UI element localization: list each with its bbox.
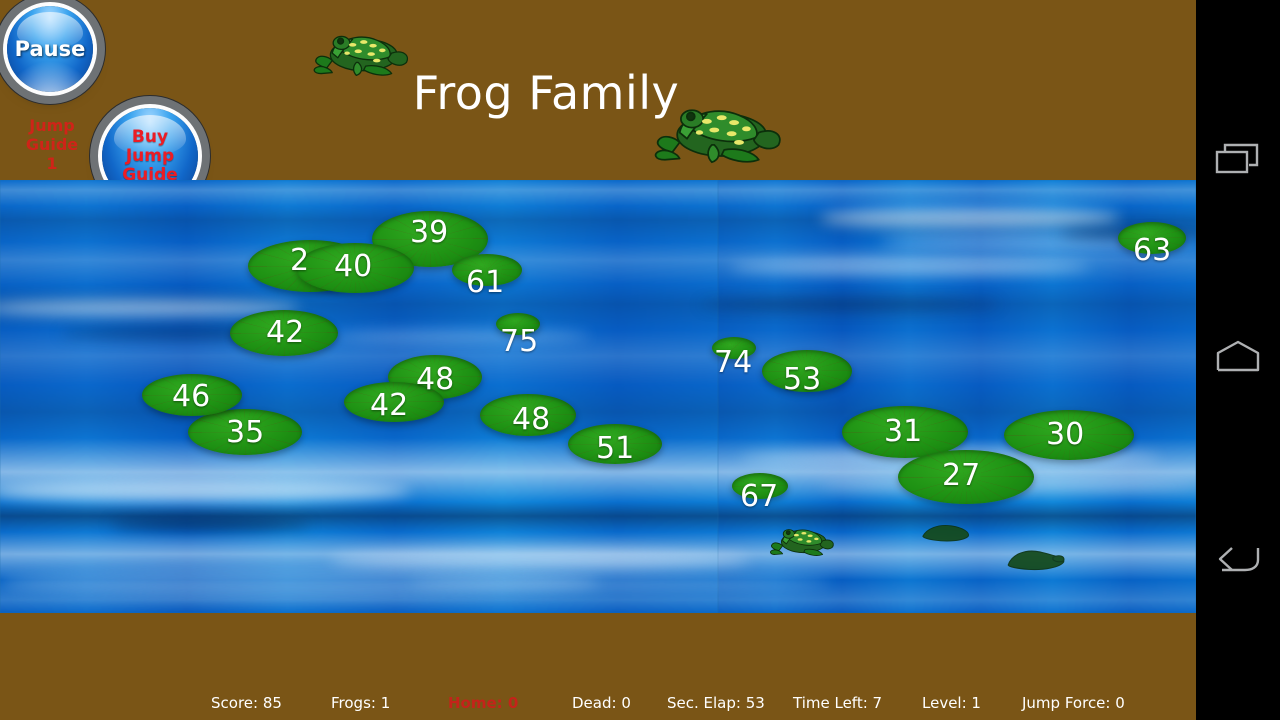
- top-banner: Frog Family: [0, 0, 1196, 180]
- lilypad[interactable]: [1004, 410, 1134, 460]
- jump-guide-line-1: Jump: [16, 116, 88, 135]
- lilypad[interactable]: [762, 350, 852, 392]
- lilypad[interactable]: [188, 409, 302, 455]
- page-title-text: Frog Family: [413, 70, 680, 116]
- status-frogs: Frogs: 1: [331, 694, 390, 712]
- lilypad[interactable]: [496, 313, 540, 335]
- frog-sprite-banner-right: [650, 95, 786, 175]
- status-bar: Score: 85Frogs: 1Home: 0Dead: 0Sec. Elap…: [0, 694, 1196, 720]
- water-playfield[interactable]: 3924061427548464235485174536331302767: [0, 180, 1196, 613]
- android-navigation-bar: [1196, 0, 1280, 720]
- lilypad[interactable]: [452, 254, 522, 286]
- pause-button[interactable]: Pause: [7, 6, 93, 92]
- lilypad[interactable]: [732, 473, 788, 499]
- buy-label-line-1: Buy: [122, 128, 178, 147]
- status-jump-force: Jump Force: 0: [1022, 694, 1125, 712]
- home-button[interactable]: [1196, 314, 1280, 398]
- pause-button-label: Pause: [15, 37, 86, 61]
- buy-jump-guide-label: Buy Jump Guide: [122, 128, 178, 181]
- jump-guide-counter: Jump Guide 1: [16, 116, 88, 173]
- status-dead: Dead: 0: [572, 694, 631, 712]
- home-icon: [1215, 339, 1261, 373]
- frog-silhouette-submerged-1: [920, 520, 972, 544]
- jump-guide-line-2: Guide: [16, 135, 88, 154]
- status-time-left: Time Left: 7: [793, 694, 882, 712]
- lilypad[interactable]: [142, 374, 242, 416]
- game-viewport: Frog Family: [0, 0, 1196, 720]
- lilypad[interactable]: [568, 424, 662, 464]
- lilypad[interactable]: [296, 243, 414, 293]
- screen: Frog Family: [0, 0, 1280, 720]
- lilypad[interactable]: [230, 310, 338, 356]
- lilypad[interactable]: [1118, 222, 1186, 254]
- frog-silhouette-submerged-2: [1006, 545, 1066, 573]
- status-score: Score: 85: [211, 694, 282, 712]
- lilypad[interactable]: [344, 382, 444, 422]
- back-icon: [1214, 540, 1262, 578]
- page-title: Frog Family: [0, 70, 1196, 116]
- frog-sprite-on-lilypad[interactable]: [766, 522, 838, 562]
- lilypad[interactable]: [712, 337, 756, 359]
- back-button[interactable]: [1196, 517, 1280, 601]
- buy-jump-guide-button[interactable]: Buy Jump Guide: [102, 108, 198, 180]
- lilypad[interactable]: [898, 450, 1034, 504]
- recents-button[interactable]: [1196, 118, 1280, 202]
- buy-label-line-3: Guide: [122, 166, 178, 181]
- jump-guide-count: 1: [16, 154, 88, 173]
- status-homes: Home: 0: [448, 694, 518, 712]
- status-level: Level: 1: [922, 694, 981, 712]
- recents-icon: [1215, 140, 1261, 180]
- lilypad[interactable]: [480, 394, 576, 436]
- status-sec-elap: Sec. Elap: 53: [667, 694, 765, 712]
- buy-label-line-2: Jump: [122, 147, 178, 166]
